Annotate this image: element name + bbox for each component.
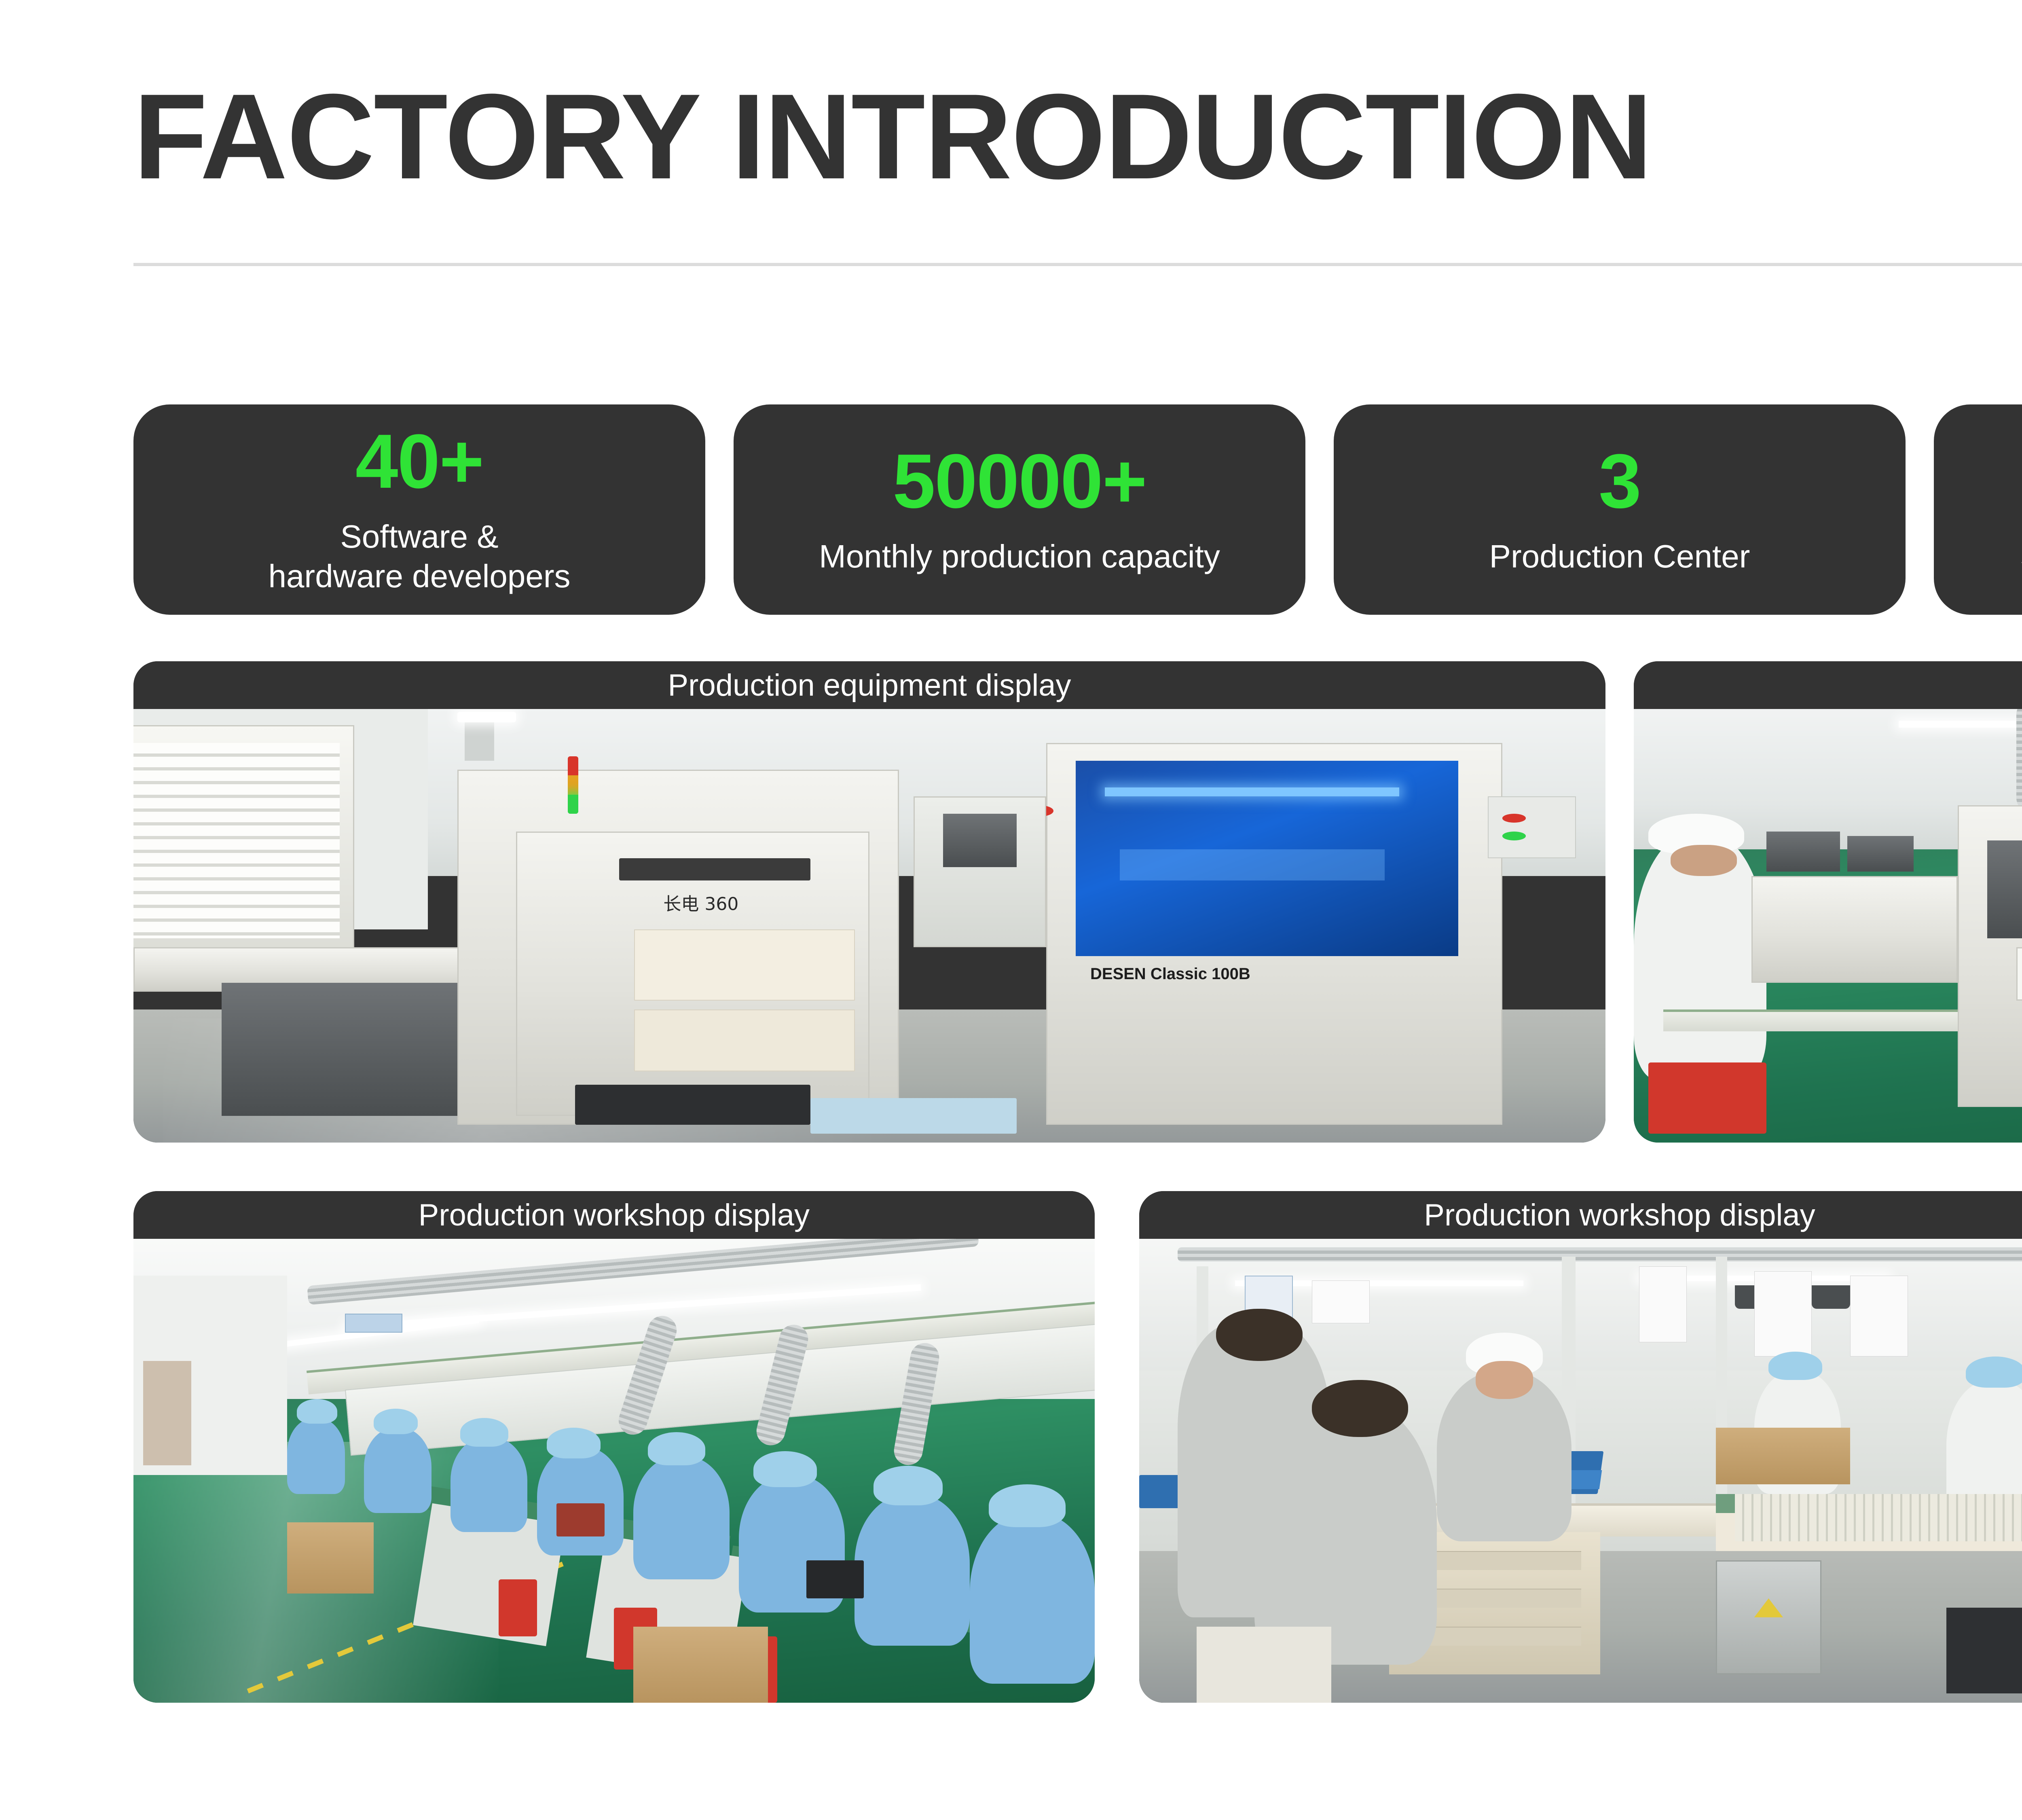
photo-panel-production-workshop-2[interactable]: Production workshop display	[1139, 1191, 2022, 1703]
stat-card-row: 40+ Software & hardware developers 50000…	[133, 404, 2022, 615]
stat-card-capacity[interactable]: 50000+ Monthly production capacity	[734, 404, 1305, 615]
factory-introduction-slide: FACTORY INTRODUCTION BAJIE CHARGING 40+ …	[0, 0, 2022, 1820]
photo-smt-printer: 长电 360 DESEN Classic 100B	[133, 698, 1605, 1143]
stat-card-production-center[interactable]: 3 Production Center	[1334, 404, 1906, 615]
page-title: FACTORY INTRODUCTION	[133, 73, 1652, 200]
photo-assembly-line	[133, 1228, 1095, 1703]
stat-label: Monthly production capacity	[819, 537, 1220, 576]
photo-workshop-benches	[1139, 1228, 2022, 1703]
photo-panel-production-workshop-1[interactable]: Production workshop display	[133, 1191, 1095, 1703]
gallery-bottom-row: Production workshop display	[133, 1191, 2022, 1703]
photo-caption: Production workshop display	[133, 1191, 1095, 1239]
stat-label: Sample customization cycle	[2020, 537, 2022, 576]
header-divider	[133, 263, 2022, 266]
stat-label: Software & hardware developers	[268, 517, 570, 596]
stat-value: 40+	[355, 423, 483, 500]
stat-value: 3	[1599, 443, 1641, 520]
stat-card-sample-cycle[interactable]: 72H Sample customization cycle	[1934, 404, 2022, 615]
photo-smt-line	[1634, 698, 2022, 1143]
gallery-top-row: Production equipment display	[133, 661, 2022, 1143]
page-header: FACTORY INTRODUCTION BAJIE CHARGING	[133, 73, 2022, 267]
photo-panel-production-equipment-1[interactable]: Production equipment display	[133, 661, 1605, 1143]
photo-caption: Production workshop display	[1139, 1191, 2022, 1239]
stat-card-developers[interactable]: 40+ Software & hardware developers	[133, 404, 705, 615]
photo-caption: Production equipment display	[133, 661, 1605, 709]
stat-value: 50000+	[893, 443, 1146, 520]
photo-panel-production-equipment-2[interactable]: Production equipment display	[1634, 661, 2022, 1143]
stat-label: Production Center	[1489, 537, 1750, 576]
photo-caption: Production equipment display	[1634, 661, 2022, 709]
